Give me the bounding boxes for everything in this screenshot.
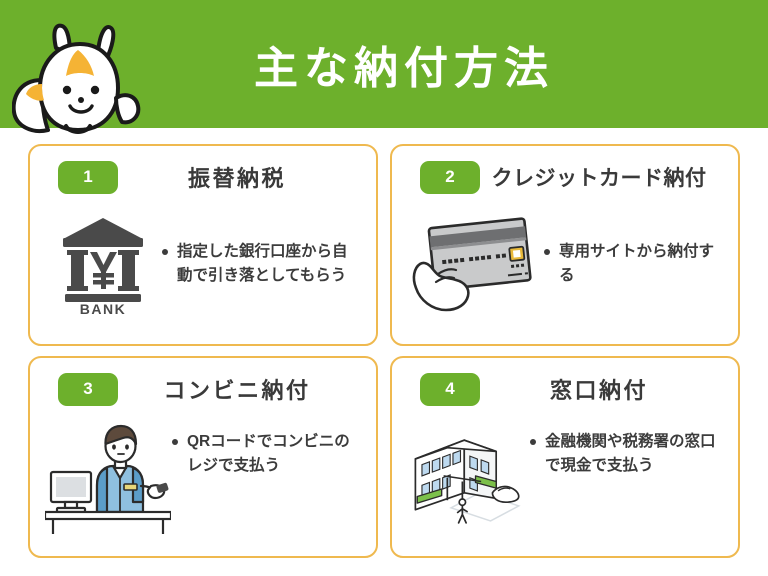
card-number-badge: 4 [420,373,480,406]
card-bullet-list: 指定した銀行口座から自動で引き落としてもらう [162,240,362,288]
payment-method-card-1[interactable]: 1 振替納税 [28,144,378,346]
card-title: クレジットカード納付 [480,162,724,192]
payment-method-card-2[interactable]: 2 クレジットカード納付 [390,144,740,346]
store-clerk-icon [44,416,172,536]
bullet-dot-icon [544,249,550,255]
card-number-badge: 3 [58,373,118,406]
card-header: 1 振替納税 [44,160,362,194]
office-building-icon [406,416,530,538]
card-bullet-list: QRコードでコンビニのレジで支払う [172,416,362,478]
card-bullet-text: 金融機関や税務署の窓口で現金で支払う [545,430,720,478]
card-bullet-text: 指定した銀行口座から自動で引き落としてもらう [177,240,358,288]
svg-text:BANK: BANK [80,301,126,316]
card-title: 窓口納付 [480,373,724,405]
card-body: QRコードでコンビニのレジで支払う [44,410,362,548]
card-body: BANK 指定した銀行口座から自動で引き落としてもらう [44,198,362,330]
bank-icon: BANK [44,200,162,328]
bullet-dot-icon [530,439,536,445]
card-header: 2 クレジットカード納付 [406,160,724,194]
card-header: 4 窓口納付 [406,372,724,406]
card-bullet-text: QRコードでコンビニのレジで支払う [187,430,358,478]
page-title: 主な納付方法 [0,0,768,128]
payment-method-card-4[interactable]: 4 窓口納付 [390,356,740,558]
card-number-badge: 2 [420,161,480,194]
card-header: 3 コンビニ納付 [44,372,362,406]
card-title: コンビニ納付 [118,373,362,405]
card-body: 金融機関や税務署の窓口で現金で支払う [406,410,724,548]
card-title: 振替納税 [118,161,362,193]
card-bullet-list: 金融機関や税務署の窓口で現金で支払う [530,416,724,478]
card-bullet-list: 専用サイトから納付する [544,240,724,288]
payment-method-card-3[interactable]: 3 コンビニ納付 [28,356,378,558]
payment-methods-grid: 1 振替納税 [0,128,768,576]
card-body: 専用サイトから納付する [406,198,724,330]
credit-card-in-hand-icon [406,200,544,328]
card-number-badge: 1 [58,161,118,194]
page-header: 主な納付方法 [0,0,768,128]
card-bullet-text: 専用サイトから納付する [559,240,720,288]
bullet-dot-icon [172,439,178,445]
bullet-dot-icon [162,249,168,255]
